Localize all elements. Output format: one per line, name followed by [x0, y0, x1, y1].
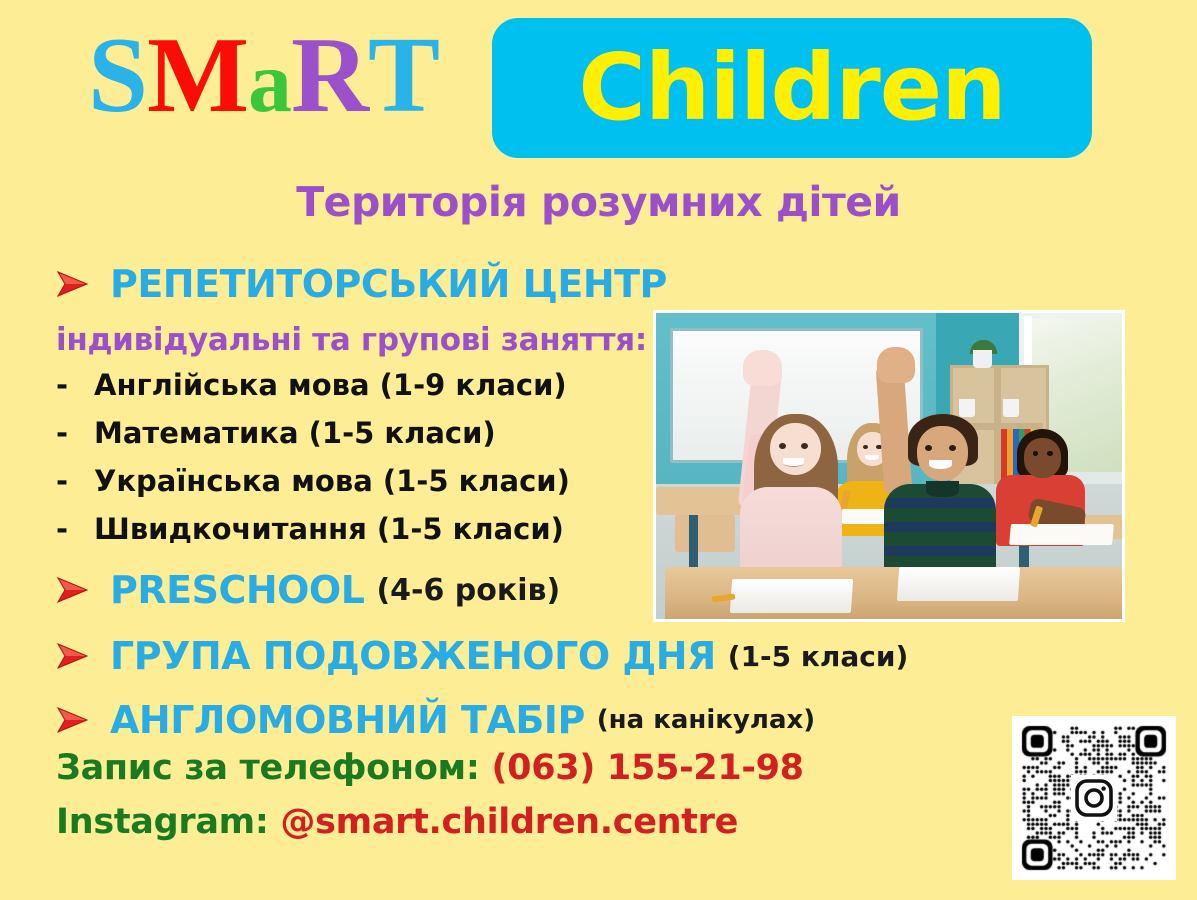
tutoring-subheading: індивідуальні та групові заняття: — [56, 322, 647, 358]
arrow-bullet-icon — [56, 269, 90, 299]
photo-boy-striped-eye-right — [949, 445, 956, 451]
photo-girl-pink-raised-hand — [743, 350, 783, 387]
camp-note: (на канікулах) — [597, 705, 815, 735]
list-item: - Українська мова (1-5 класи) — [56, 464, 656, 512]
subject-label: Математика (1-5 класи) — [94, 416, 496, 450]
photo-girl-pink-eye-left — [779, 443, 786, 449]
photo-girl-pink-smile — [783, 458, 804, 466]
instagram-contact-line[interactable]: Instagram: @smart.children.centre — [56, 802, 738, 842]
subject-label: Українська мова (1-5 класи) — [94, 464, 570, 498]
section-preschool-heading: PRESCHOOL (4-6 років) — [56, 568, 560, 612]
photo-girl-yellow-eye-left — [863, 445, 868, 450]
list-item: - Математика (1-5 класи) — [56, 416, 656, 464]
photo-cup-right — [1003, 399, 1019, 417]
tagline: Територія розумних дітей — [0, 176, 1197, 228]
photo-boy-red-eye-left — [1033, 451, 1039, 456]
camp-title: АНГЛОМОВНИЙ ТАБІР — [110, 698, 585, 742]
children-badge: Children — [492, 18, 1092, 158]
instagram-handle[interactable]: @smart.children.centre — [280, 802, 738, 842]
dash-marker: - — [56, 512, 94, 546]
daygroup-title: ГРУПА ПОДОВЖЕНОГО ДНЯ — [110, 634, 716, 678]
header-logo-row: SMaRT Children — [0, 0, 1197, 170]
section-camp-heading: АНГЛОМОВНИЙ ТАБІР (на канікулах) — [56, 698, 815, 742]
section-tutoring-heading: РЕПЕТИТОРСЬКИЙ ЦЕНТР — [56, 262, 667, 306]
preschool-title: PRESCHOOL — [110, 568, 364, 612]
logo-letter-t: T — [368, 16, 439, 136]
tutoring-title: РЕПЕТИТОРСЬКИЙ ЦЕНТР — [110, 262, 667, 306]
phone-contact-line[interactable]: Запис за телефоном: (063) 155-21-98 — [56, 748, 804, 788]
list-item: - Швидкочитання (1-5 класи) — [56, 512, 656, 560]
photo-chair-left — [675, 515, 736, 552]
instagram-label: Instagram: — [56, 802, 269, 842]
photo-notebook-back-right — [1009, 524, 1113, 545]
subject-label: Англійська мова (1-9 класи) — [94, 368, 567, 402]
dash-marker: - — [56, 416, 94, 450]
photo-boy-striped-raised-hand — [877, 347, 914, 384]
dash-marker: - — [56, 368, 94, 402]
photo-boy-striped-eye-left — [925, 445, 932, 451]
children-label: Children — [492, 18, 1092, 158]
logo-letter-m: M — [147, 16, 248, 136]
subject-list: - Англійська мова (1-9 класи) - Математи… — [56, 368, 656, 560]
smart-wordmark: SMaRT — [88, 16, 439, 143]
instagram-icon — [1071, 775, 1117, 821]
photo-boy-striped-collar — [926, 481, 959, 496]
classroom-photo — [653, 310, 1125, 622]
logo-letter-r: R — [291, 16, 368, 136]
phone-number[interactable]: (063) 155-21-98 — [491, 748, 803, 788]
phone-label: Запис за телефоном: — [56, 748, 480, 788]
preschool-note: (4-6 років) — [376, 573, 560, 608]
photo-boy-red-eye-right — [1047, 451, 1053, 456]
arrow-bullet-icon — [56, 575, 90, 605]
photo-plant-pot — [973, 350, 993, 368]
dash-marker: - — [56, 464, 94, 498]
logo-letter-a: a — [248, 23, 291, 143]
instagram-qr-code[interactable] — [1012, 716, 1176, 880]
photo-boy-red-face — [1024, 438, 1061, 478]
daygroup-note: (1-5 класи) — [728, 640, 909, 673]
section-daygroup-heading: ГРУПА ПОДОВЖЕНОГО ДНЯ (1-5 класи) — [56, 634, 908, 678]
poster-root: SMaRT Children Територія розумних дітей … — [0, 0, 1197, 900]
logo-letter-s: S — [88, 16, 147, 136]
photo-notebook-front-right — [897, 567, 1021, 601]
photo-notebook-front-left — [729, 579, 853, 613]
subject-label: Швидкочитання (1-5 класи) — [94, 512, 564, 546]
arrow-bullet-icon — [56, 705, 90, 735]
photo-cup-left — [959, 399, 975, 417]
arrow-bullet-icon — [56, 641, 90, 671]
list-item: - Англійська мова (1-9 класи) — [56, 368, 656, 416]
